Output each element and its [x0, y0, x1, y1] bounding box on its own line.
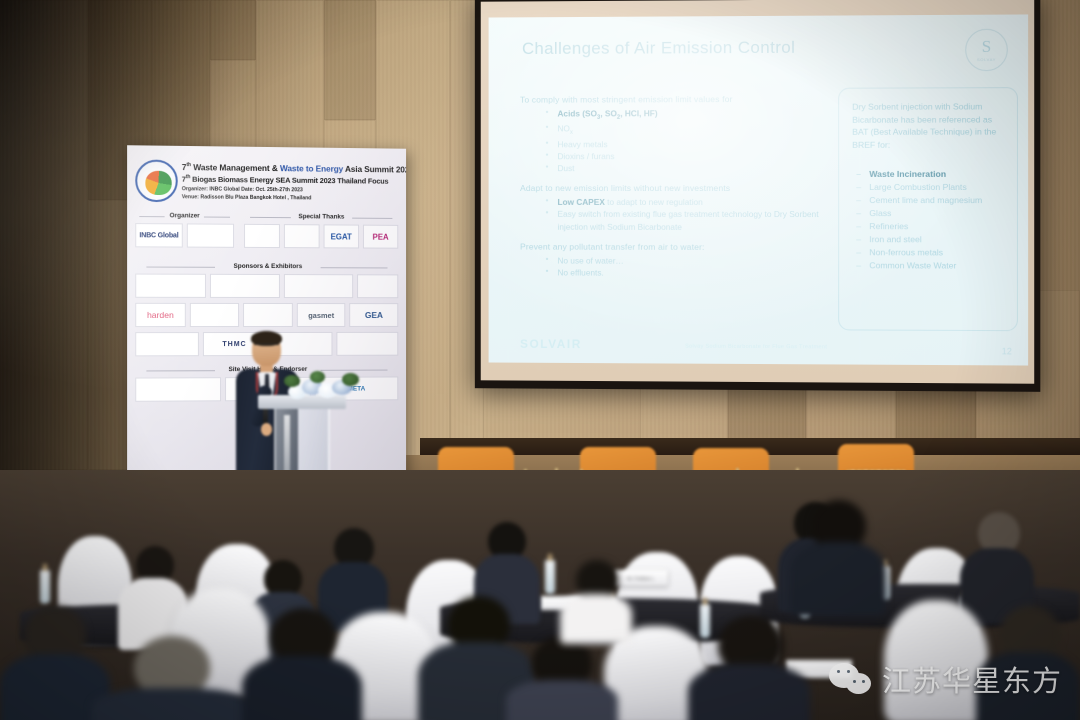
side-item-cement-lime: Cement lime and magnesium: [856, 194, 1004, 207]
slide-lead-2: Adapt to new emission limits without new…: [520, 183, 828, 193]
side-panel-list: Waste Incineration Large Combustion Plan…: [856, 168, 1004, 273]
logo-organizer-2: [187, 223, 234, 247]
banner-organizer-section: Organizer INBC Global Special Thanks EGA…: [135, 212, 398, 254]
special-thanks-label: Special Thanks: [244, 213, 399, 221]
logo-dede: [244, 224, 280, 248]
slide-bullet-list-3: No use of water… No effluents.: [546, 254, 828, 279]
slide-left-column: To comply with most stringent emission l…: [520, 94, 828, 280]
water-bottle-aud-6: [40, 570, 50, 604]
side-item-large-combustion: Large Combustion Plants: [856, 181, 1004, 194]
solvay-logo-icon: S SOLVAY: [965, 29, 1008, 72]
audience-person-f3: [242, 608, 362, 720]
side-item-waste-incineration: Waste Incineration: [856, 168, 1004, 181]
audience-person-f7: [790, 500, 886, 612]
logo-santong: [135, 274, 206, 298]
logo-mnre: [284, 224, 320, 248]
side-item-waste-water: Common Waste Water: [856, 260, 1004, 273]
special-thanks-logo-row: EGAT PEA: [244, 224, 399, 249]
summit-logo-icon: [135, 159, 178, 202]
side-item-refineries: Refineries: [856, 220, 1004, 233]
solvay-letter: S: [982, 38, 992, 55]
slide-title: Challenges of Air Emission Control: [522, 38, 795, 59]
bullet-heavy-metals: Heavy metals: [546, 138, 828, 151]
sponsor-row-2: harden gasmet GEA: [135, 303, 398, 327]
bullet-easy-switch: Easy switch from existing flue gas treat…: [546, 208, 828, 233]
slide-lead-1: To comply with most stringent emission l…: [520, 94, 828, 105]
logo-magnetic: [336, 332, 398, 356]
logo-sunrui: [243, 303, 292, 327]
audience-person-f6: [688, 616, 810, 720]
logo-corus: [135, 377, 221, 402]
sponsors-section-label: Sponsors & Exhibitors: [135, 262, 398, 270]
logo-cset: [357, 274, 398, 298]
audience-person-f9: [560, 560, 632, 640]
slide-side-panel: Dry Sorbent injection with Sodium Bicarb…: [838, 87, 1018, 331]
logo-gasmet: gasmet: [297, 303, 346, 327]
bullet-no-effluents: No effluents.: [546, 267, 828, 280]
water-bottle-aud-1: [545, 560, 555, 594]
presentation-slide: Challenges of Air Emission Control S SOL…: [489, 14, 1029, 365]
logo-inbc: INBC Global: [135, 223, 182, 247]
slide-lead-3: Prevent any pollutant transfer from air …: [520, 241, 828, 252]
bullet-dust: Dust: [546, 162, 828, 174]
banner-title-line-1: 7th Waste Management & Waste to Energy A…: [182, 162, 406, 175]
sponsor-row-1: [135, 274, 398, 299]
organizer-section-label: Organizer: [135, 212, 234, 220]
bullet-acids: Acids (SO3, SO2, HCl, HF): [546, 107, 828, 123]
slide-footer-note: Solvay Sodium Bicarbonate for Flue Gas T…: [685, 344, 827, 351]
projection-screen: Challenges of Air Emission Control S SOL…: [475, 0, 1040, 392]
slide-bullet-list-1: Acids (SO3, SO2, HCl, HF) NOx Heavy meta…: [546, 107, 828, 175]
logo-egat: EGAT: [323, 224, 359, 248]
logo-gea: GEA: [350, 303, 399, 327]
audience-person-f5: [506, 636, 618, 720]
banner-venue-line: Venue: Radisson Blu Plaza Bangkok Hotel …: [182, 194, 406, 202]
logo-transparent: [135, 332, 199, 356]
logo-venti: [189, 303, 239, 327]
banner-title-line-2: 7th Biogas Biomass Energy SEA Summit 202…: [182, 174, 406, 186]
wechat-watermark: 江苏华星东方: [829, 658, 1062, 700]
conference-photo: Challenges of Air Emission Control S SOL…: [0, 0, 1080, 720]
side-item-glass: Glass: [856, 207, 1004, 220]
solvair-footer-logo: SOLVAIR: [520, 337, 582, 351]
logo-harden: harden: [135, 303, 185, 327]
slide-bullet-list-2: Low CAPEX to adapt to new regulation Eas…: [546, 196, 828, 233]
banner-header: 7th Waste Management & Waste to Energy A…: [135, 159, 398, 204]
bullet-nox: NOx: [546, 122, 828, 138]
solvay-wordmark: SOLVAY: [977, 57, 996, 62]
side-item-non-ferrous: Non-ferrous metals: [856, 246, 1004, 259]
audience-person-f2: [92, 636, 252, 720]
logo-taiheng: [284, 274, 353, 298]
logo-pea: PEA: [363, 225, 398, 249]
organizer-logo-row: INBC Global: [135, 223, 234, 248]
bullet-no-water: No use of water…: [546, 254, 828, 267]
banner-titles: 7th Waste Management & Waste to Energy A…: [182, 160, 406, 202]
flower-arrangement: [284, 371, 360, 405]
watermark-text: 江苏华星东方: [882, 658, 1062, 700]
slide-page-number: 12: [1002, 346, 1012, 356]
side-panel-paragraph: Dry Sorbent injection with Sodium Bicarb…: [852, 100, 1004, 151]
bullet-dioxins: Dioxins / furans: [546, 150, 828, 162]
logo-cnenergy: [210, 274, 280, 298]
glasses-icon: [254, 344, 279, 350]
bullet-low-capex: Low CAPEX to adapt to new regulation: [546, 196, 828, 208]
wechat-icon: [829, 663, 873, 696]
side-item-iron-steel: Iron and steel: [856, 233, 1004, 246]
